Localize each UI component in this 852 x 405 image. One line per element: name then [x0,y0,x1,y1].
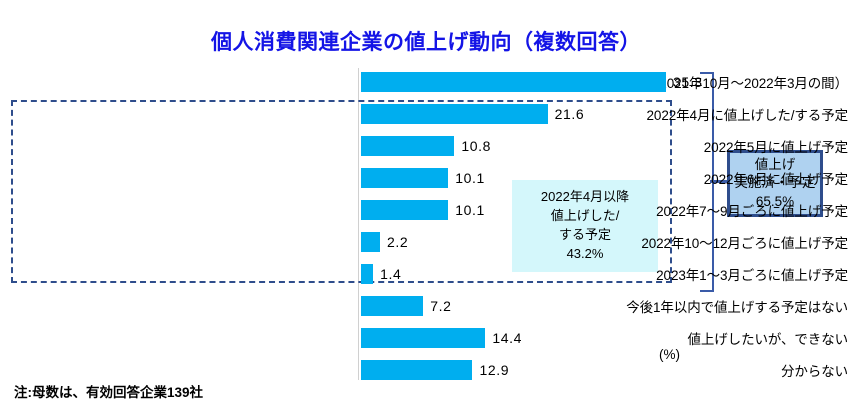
bar-value-label: 7.2 [430,298,451,314]
bar[interactable] [361,296,423,316]
bar[interactable] [361,328,485,348]
bar-category-label: 2022年10～12月ごろに値上げ予定 [500,232,852,252]
bar-row: 2022年6月に値上げ予定10.1 [0,168,852,188]
bar[interactable] [361,168,448,188]
bar[interactable] [361,136,454,156]
page-title: 個人消費関連企業の値上げ動向（複数回答） [0,26,852,56]
chart-container: 個人消費関連企業の値上げ動向（複数回答） 2022年4月以降 値上げした/ する… [0,0,852,405]
bar-row: 2022年10～12月ごろに値上げ予定2.2 [0,232,852,252]
bar-category-label: 今後1年以内で値上げする予定はない [500,296,852,316]
bar[interactable] [361,104,548,124]
bar-value-label: 10.8 [461,138,491,154]
bar-category-label: 値上げしたいが、できない [500,328,852,348]
bar-category-label: 2023年1～3月ごろに値上げ予定 [500,264,852,284]
bar-category-label: 分からない [500,360,852,380]
bar-row: すでに値上げした（2021年10月～2022年3月の間）35.3 [0,72,852,92]
bar-value-label: 1.4 [380,266,401,282]
bar-category-label: 2022年5月に値上げ予定 [500,136,852,156]
bar-row: 2022年5月に値上げ予定10.8 [0,136,852,156]
bar-value-label: 12.9 [479,362,509,378]
bar-value-label: 21.6 [555,106,585,122]
bar-row: 今後1年以内で値上げする予定はない7.2 [0,296,852,316]
bar[interactable] [361,360,472,380]
bar-value-label: 2.2 [387,234,408,250]
bar[interactable] [361,200,448,220]
bar[interactable] [361,72,666,92]
bar-category-label: 2022年4月に値上げした/する予定 [500,104,852,124]
bar-row: 2022年4月に値上げした/する予定21.6 [0,104,852,124]
bar-row: 値上げしたいが、できない14.4 [0,328,852,348]
bar-category-label: 2022年7～9月ごろに値上げ予定 [500,200,852,220]
footnote: 注:母数は、有効回答企業139社 [14,381,203,401]
bar-row: 分からない12.9 [0,360,852,380]
bar-row: 2022年7～9月ごろに値上げ予定10.1 [0,200,852,220]
bar-category-label: 2022年6月に値上げ予定 [500,168,852,188]
bar[interactable] [361,232,380,252]
bar-value-label: 14.4 [492,330,522,346]
bar-value-label: 10.1 [455,202,485,218]
bar-value-label: 10.1 [455,170,485,186]
cyan-annotation-box: 2022年4月以降 値上げした/ する予定 43.2% [512,180,658,272]
bar-row: 2023年1～3月ごろに値上げ予定1.4 [0,264,852,284]
bar-value-label: 35.3 [673,74,703,90]
bar[interactable] [361,264,373,284]
